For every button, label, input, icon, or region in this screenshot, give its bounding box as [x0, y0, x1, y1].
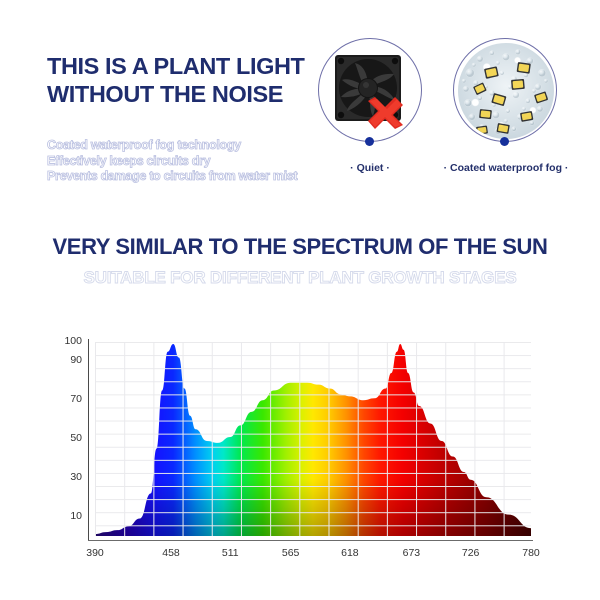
led-chips: [473, 62, 548, 135]
chart-plot-area: [95, 342, 531, 536]
led-board-water-droplets-icon: [458, 43, 554, 139]
badge-quiet: · Quiet ·: [318, 38, 422, 190]
x-tick-label: 565: [282, 547, 300, 559]
y-tick-label: 90: [42, 354, 82, 366]
x-tick-label: 390: [86, 547, 104, 559]
x-tick-label: 511: [222, 547, 239, 559]
y-axis-labels: 1030507090100: [40, 325, 82, 545]
y-tick-label: 10: [42, 510, 82, 522]
x-tick-label: 780: [522, 547, 540, 559]
marketing-page: THIS IS A PLANT LIGHT WITHOUT THE NOISE …: [0, 0, 600, 600]
y-tick-label: 100: [42, 335, 82, 347]
x-tick-label: 618: [341, 547, 359, 559]
y-tick-label: 30: [42, 471, 82, 483]
x-tick-label: 726: [462, 547, 480, 559]
x-tick-label: 673: [403, 547, 421, 559]
y-axis-line: [88, 339, 89, 541]
spectrum-chart: 1030507090100 390458511565618673726780: [0, 325, 600, 570]
hero-bullet-list: Coated waterproof fog technology Effecti…: [47, 138, 347, 185]
hero-bullet-3: Prevents damage to circuits from water m…: [47, 169, 347, 185]
page-title: THIS IS A PLANT LIGHT WITHOUT THE NOISE: [47, 52, 327, 108]
spectrum-title: VERY SIMILAR TO THE SPECTRUM OF THE SUN: [0, 234, 600, 260]
badge-coated-waterproof-fog: · Coated waterproof fog ·: [453, 38, 559, 190]
x-axis-line: [88, 540, 533, 541]
title-line-2: WITHOUT THE NOISE: [47, 80, 327, 108]
badge-anchor-dot: [365, 137, 374, 146]
spectrum-subtitle: SUITABLE FOR DIFFERENT PLANT GROWTH STAG…: [0, 268, 600, 288]
badge-anchor-dot: [500, 137, 509, 146]
x-axis-labels: 390458511565618673726780: [0, 547, 600, 567]
y-tick-label: 70: [42, 393, 82, 405]
badge-ring: [453, 38, 557, 142]
badge-caption-coated-fog: · Coated waterproof fog ·: [427, 162, 585, 174]
badge-caption-quiet: · Quiet ·: [318, 162, 422, 174]
y-tick-label: 50: [42, 432, 82, 444]
cooling-fan-crossed-out-icon: [333, 53, 409, 129]
x-tick-label: 458: [162, 547, 180, 559]
hero-section: THIS IS A PLANT LIGHT WITHOUT THE NOISE …: [0, 0, 600, 210]
chart-gridlines: [95, 342, 531, 536]
hero-bullet-1: Coated waterproof fog technology: [47, 138, 347, 154]
title-line-1: THIS IS A PLANT LIGHT: [47, 53, 305, 79]
badge-ring: [318, 38, 422, 142]
hero-bullet-2: Effectively keeps circuits dry: [47, 154, 347, 170]
